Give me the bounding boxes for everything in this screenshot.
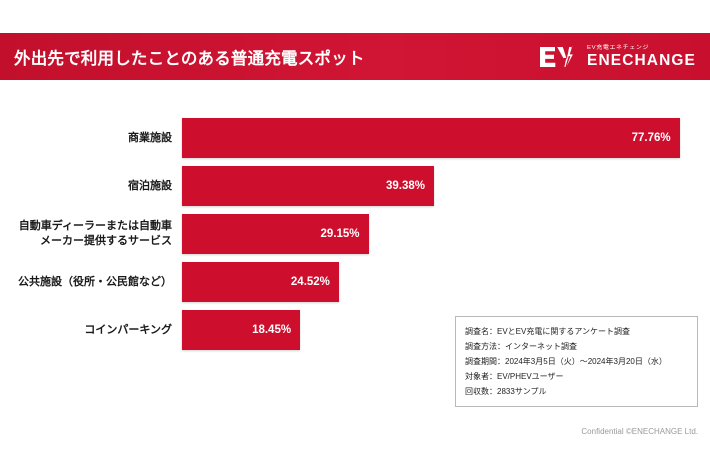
bar-value-label: 77.76% [632, 132, 671, 144]
bar-row: 自動車ディーラーまたは自動車 メーカー提供するサービス29.15% [0, 214, 710, 254]
bar-category-label: コインパーキング [0, 323, 182, 338]
logo-tagline: EV充電エネチェンジ [587, 45, 696, 51]
bar-value-label: 39.38% [386, 180, 425, 192]
bar-fill: 39.38% [182, 166, 434, 206]
survey-info-line: 調査方法：インターネット調査 [465, 339, 688, 354]
bar-row: 宿泊施設39.38% [0, 166, 710, 206]
bar-category-label: 商業施設 [0, 131, 182, 146]
survey-info-line: 調査期間：2024年3月5日（火）〜2024年3月20日（水） [465, 354, 688, 369]
confidential-footer: Confidential ©ENECHANGE Ltd. [581, 427, 698, 436]
logo-brand: ENECHANGE [587, 53, 696, 69]
bar-category-label: 宿泊施設 [0, 179, 182, 194]
bar-track: 77.76% [182, 118, 710, 158]
enechange-logo: EV充電エネチェンジ ENECHANGE [539, 45, 700, 69]
bar-fill: 24.52% [182, 262, 339, 302]
survey-info-line: 対象者：EV/PHEVユーザー [465, 370, 688, 385]
bar-category-label: 公共施設（役所・公民館など） [0, 275, 182, 290]
bar-fill: 29.15% [182, 214, 369, 254]
bar-category-label: 自動車ディーラーまたは自動車 メーカー提供するサービス [0, 219, 182, 249]
bar-track: 39.38% [182, 166, 710, 206]
bar-value-label: 24.52% [291, 276, 330, 288]
survey-info-box: 調査名：EVとEV充電に関するアンケート調査調査方法：インターネット調査調査期間… [455, 316, 698, 407]
bar-row: 商業施設77.76% [0, 118, 710, 158]
bar-value-label: 29.15% [321, 228, 360, 240]
page-title: 外出先で利用したことのある普通充電スポット [14, 45, 365, 69]
bar-track: 29.15% [182, 214, 710, 254]
bar-track: 24.52% [182, 262, 710, 302]
bar-value-label: 18.45% [252, 324, 291, 336]
bar-row: 公共施設（役所・公民館など）24.52% [0, 262, 710, 302]
survey-info-line: 回収数：2833サンプル [465, 385, 688, 400]
ev-lightning-mark-icon [539, 45, 581, 69]
bar-fill: 77.76% [182, 118, 680, 158]
survey-info-line: 調査名：EVとEV充電に関するアンケート調査 [465, 324, 688, 339]
header-banner: 外出先で利用したことのある普通充電スポット EV充電エネチェンジ ENECHAN… [0, 33, 710, 80]
bar-fill: 18.45% [182, 310, 300, 350]
logo-text-block: EV充電エネチェンジ ENECHANGE [587, 45, 696, 69]
